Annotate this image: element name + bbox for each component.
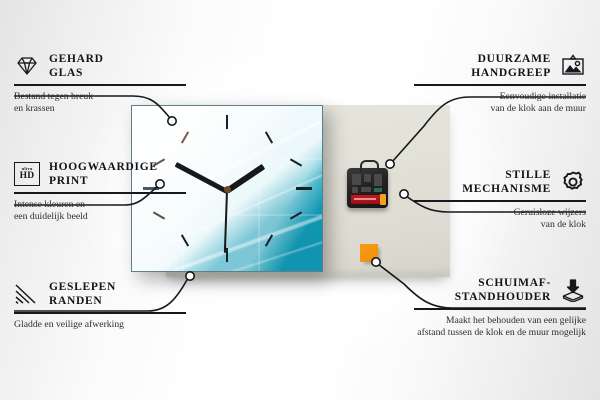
feature-title: HOOGWAARDIGE PRINT <box>49 160 158 188</box>
feature-desc-line2: afstand tussen de klok en de muur mogeli… <box>414 327 586 340</box>
feature-desc-line1: Geruisloze wijzers <box>414 207 586 220</box>
feature-title-line2: PRINT <box>49 174 158 188</box>
feature-divider <box>414 200 586 202</box>
battery <box>351 195 385 204</box>
feature-description: Geruisloze wijzers van de klok <box>414 207 586 232</box>
clock-mechanism <box>347 168 388 208</box>
feather-streak <box>173 207 323 272</box>
feature-title-line2: HANDGREEP <box>471 66 551 80</box>
feature-header: GEHARD GLAS <box>14 52 186 80</box>
print-gridline <box>258 106 260 271</box>
feature-header: DUURZAME HANDGREEP <box>414 52 586 80</box>
hanging-hook-icon <box>360 160 379 172</box>
feature-description: Bestand tegen breuk en krassen <box>14 91 186 116</box>
feature-title-line2: GLAS <box>49 66 104 80</box>
feature-divider <box>14 84 186 86</box>
feature-title-line1: DUURZAME <box>471 52 551 66</box>
feature-title-line1: HOOGWAARDIGE <box>49 160 158 174</box>
feature-desc-line2: van de klok <box>414 219 586 232</box>
feature-desc-line1: Bestand tegen breuk <box>14 91 186 104</box>
mechanism-detail <box>352 187 358 193</box>
feature-desc-line2: en krassen <box>14 103 186 116</box>
feature-hoogwaardige-print: ultra HD HOOGWAARDIGE PRINT Intense kleu… <box>14 160 186 224</box>
mechanism-sticker <box>374 188 382 192</box>
feature-desc-line1: Maakt het behouden van een gelijke <box>414 315 586 328</box>
feature-title-line2: STANDHOUDER <box>455 290 551 304</box>
feature-desc-line2: van de klok aan de muur <box>414 103 586 116</box>
feature-description: Eenvoudige installatie van de klok aan d… <box>414 91 586 116</box>
feature-desc-line1: Gladde en veilige afwerking <box>14 319 186 332</box>
feature-description: Maakt het behouden van een gelijke afsta… <box>414 315 586 340</box>
feature-header: STILLE MECHANISME <box>414 168 586 196</box>
feature-title-line1: STILLE <box>462 168 551 182</box>
hour-tick-1 <box>265 131 273 143</box>
press-down-pad-icon <box>560 278 586 302</box>
framed-picture-icon <box>560 54 586 78</box>
feature-desc-line1: Intense kleuren en <box>14 199 186 212</box>
gear-icon <box>560 170 586 194</box>
feature-divider <box>414 84 586 86</box>
diamond-icon <box>14 54 40 78</box>
feature-divider <box>414 308 586 310</box>
feature-divider <box>14 312 186 314</box>
feature-title-line1: GEHARD <box>49 52 104 66</box>
ultra-hd-icon: ultra HD <box>14 162 40 186</box>
feature-title-line2: RANDEN <box>49 294 116 308</box>
feature-title: STILLE MECHANISME <box>462 168 551 196</box>
hour-tick-3 <box>296 187 312 190</box>
battery-label <box>354 198 376 200</box>
mechanism-detail <box>352 174 361 185</box>
second-hand <box>224 190 228 252</box>
feature-divider <box>14 192 186 194</box>
clock-center-pin <box>224 186 231 193</box>
feature-description: Gladde en veilige afwerking <box>14 319 186 332</box>
feature-title: SCHUIMAF- STANDHOUDER <box>455 276 551 304</box>
feature-gehard-glas: GEHARD GLAS Bestand tegen breuk en krass… <box>14 52 186 116</box>
feature-stille-mechanisme: STILLE MECHANISME Geruisloze wijzers van… <box>414 168 586 232</box>
feature-desc-line1: Eenvoudige installatie <box>414 91 586 104</box>
mechanism-detail <box>364 174 371 182</box>
feature-desc-line2: een duidelijk beeld <box>14 211 186 224</box>
feature-geslepen-randen: GESLEPEN RANDEN Gladde en veilige afwerk… <box>14 280 186 331</box>
feature-schuimafstandhouder: SCHUIMAF- STANDHOUDER Maakt het behouden… <box>414 276 586 340</box>
hour-tick-6 <box>226 248 228 262</box>
feature-duurzame-handgreep: DUURZAME HANDGREEP Eenvoudige installati… <box>414 52 586 116</box>
feature-title: DUURZAME HANDGREEP <box>471 52 551 80</box>
feature-title-line1: SCHUIMAF- <box>455 276 551 290</box>
feature-title: GEHARD GLAS <box>49 52 104 80</box>
feature-header: SCHUIMAF- STANDHOUDER <box>414 276 586 304</box>
feature-title: GESLEPEN RANDEN <box>49 280 116 308</box>
mechanism-detail <box>374 174 382 186</box>
feature-title-line2: MECHANISME <box>462 182 551 196</box>
feature-header: ultra HD HOOGWAARDIGE PRINT <box>14 160 186 188</box>
ultra-hd-icon-main: HD <box>20 172 35 182</box>
feature-description: Intense kleuren en een duidelijk beeld <box>14 199 186 224</box>
feature-title-line1: GESLEPEN <box>49 280 116 294</box>
mechanism-detail <box>361 187 371 192</box>
product-infographic: GEHARD GLAS Bestand tegen breuk en krass… <box>0 0 600 400</box>
foam-spacer-pad <box>360 244 378 262</box>
beveled-edges-icon <box>14 282 40 306</box>
hour-tick-12 <box>226 115 228 129</box>
feature-header: GESLEPEN RANDEN <box>14 280 186 308</box>
